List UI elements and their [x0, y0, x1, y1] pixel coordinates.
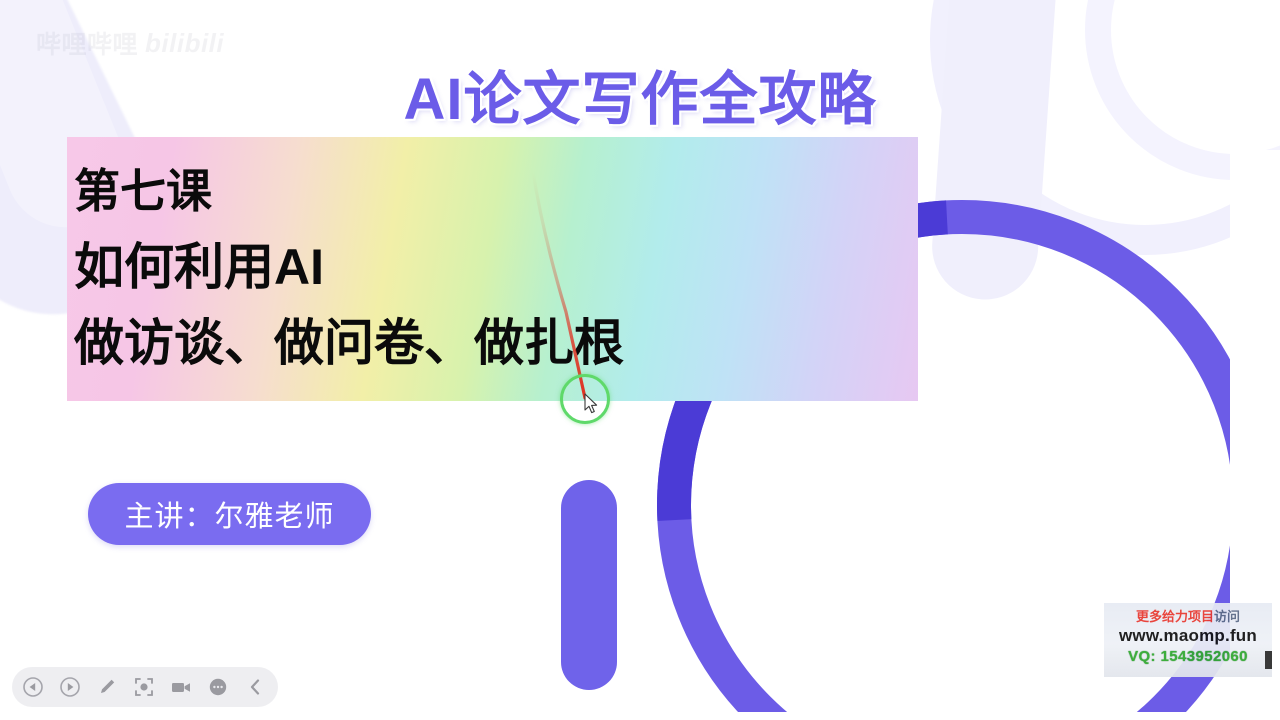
- promo-watermark: 更多给力项目访问 www.maomp.fun VQ: 1543952060: [1104, 603, 1272, 677]
- presenter-badge: 主讲：尔雅老师: [88, 483, 371, 545]
- screenshot-button[interactable]: [133, 676, 155, 698]
- slide-stage: 哔哩哔哩 bilibili AI论文写作全攻略 第七课 如何利用AI 做访谈、做…: [0, 0, 1280, 720]
- promo-contact: VQ: 1543952060: [1104, 648, 1272, 666]
- promo-site: www.maomp.fun: [1104, 626, 1272, 647]
- collapse-button[interactable]: [244, 676, 266, 698]
- ring-mask-bottom: [640, 712, 1280, 720]
- promo-hot-text: 更多给力项目: [1136, 609, 1214, 624]
- mouse-cursor: [584, 393, 599, 415]
- presenter-label: 主讲：尔雅老师: [124, 493, 334, 535]
- record-button[interactable]: [170, 676, 192, 698]
- play-button[interactable]: [59, 676, 81, 698]
- previous-button[interactable]: [22, 676, 44, 698]
- promo-headline: 更多给力项目访问: [1104, 609, 1272, 625]
- more-button[interactable]: [207, 676, 229, 698]
- lesson-number: 第七课: [74, 153, 624, 229]
- promo-edge-bar: [1265, 651, 1272, 669]
- lesson-heading: 如何利用AI: [74, 229, 624, 305]
- promo-visit-text: 访问: [1214, 609, 1240, 624]
- lesson-banner: 第七课 如何利用AI 做访谈、做问卷、做扎根: [67, 137, 918, 401]
- page-title: AI论文写作全攻略: [0, 52, 1280, 136]
- annotate-button[interactable]: [96, 676, 118, 698]
- lesson-banner-text: 第七课 如何利用AI 做访谈、做问卷、做扎根: [67, 137, 624, 381]
- decorative-purple-pill: [561, 480, 617, 690]
- decorative-band-top-right: [929, 0, 1074, 303]
- lesson-subheading: 做访谈、做问卷、做扎根: [74, 305, 624, 381]
- player-toolbar[interactable]: [12, 667, 278, 707]
- ring-mask-right: [1230, 150, 1280, 670]
